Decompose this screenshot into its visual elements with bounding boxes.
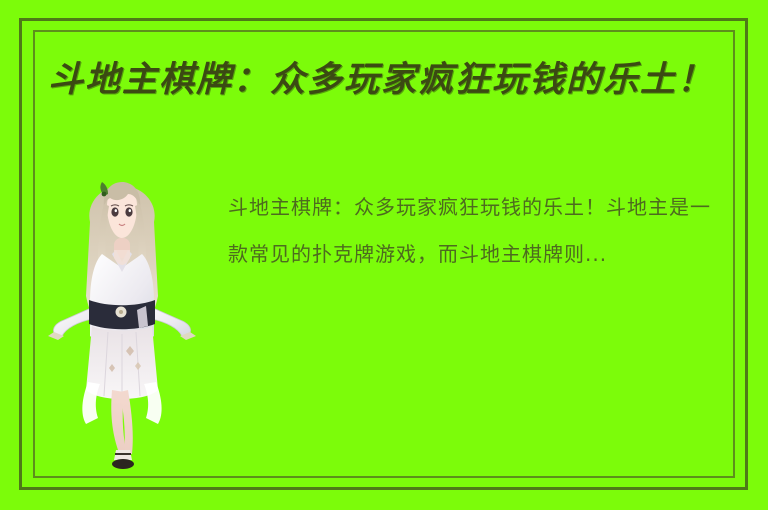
anime-girl-kimono-illustration <box>42 176 202 476</box>
page-title: 斗地主棋牌：众多玩家疯狂玩钱的乐土！ <box>48 52 738 107</box>
article-excerpt: 斗地主棋牌：众多玩家疯狂玩钱的乐土！斗地主是一款常见的扑克牌游戏，而斗地主棋牌则… <box>228 184 728 278</box>
page-root: 斗地主棋牌：众多玩家疯狂玩钱的乐土！ <box>0 0 768 510</box>
